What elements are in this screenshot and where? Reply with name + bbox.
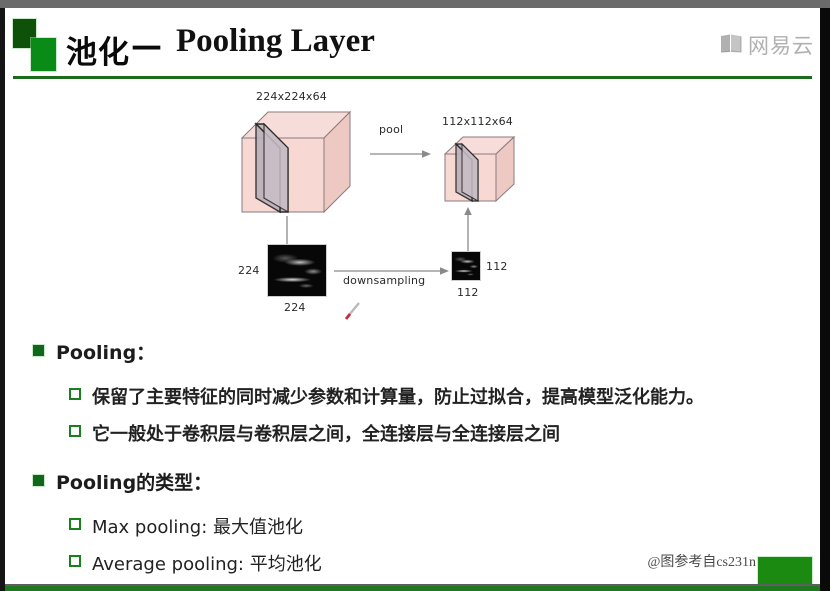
- window-top-bar: [0, 0, 830, 8]
- bullet-heading-label: Pooling的类型：: [56, 468, 212, 495]
- diagram-downsampling-label: downsampling: [343, 274, 425, 287]
- pen-cursor-icon: [342, 300, 364, 322]
- presentation-slide: 池化 — Pooling Layer 网易云 224x224x64: [5, 8, 820, 591]
- screen: 池化 — Pooling Layer 网易云 224x224x64: [0, 0, 830, 591]
- bullet-heading-label: Pooling：: [56, 338, 155, 365]
- watermark-text: 网易云: [748, 30, 814, 60]
- diagram-output-volume-label: 112x112x64: [442, 115, 513, 128]
- page-title-cn: 池化: [66, 27, 130, 72]
- bullet-square-hollow-icon: [69, 425, 81, 437]
- diagram-output-width-label: 112: [457, 286, 479, 299]
- output-volume-cube: [442, 134, 517, 206]
- logo-square-light: [31, 38, 56, 71]
- book-icon: [719, 33, 743, 58]
- bullet-square-hollow-icon: [69, 555, 81, 567]
- footer-green-block: [758, 557, 812, 587]
- window-right-edge: [820, 8, 830, 591]
- diagram-pool-arrow-label: pool: [379, 123, 403, 136]
- bullet-item-max-pooling: Max pooling: 最大值池化: [69, 513, 820, 539]
- header-divider: [13, 76, 812, 79]
- bullet-heading-pooling-types: Pooling的类型：: [33, 468, 820, 495]
- page-title-en: Pooling Layer: [176, 23, 375, 60]
- bullet-item-label: Max pooling: 最大值池化: [92, 513, 303, 539]
- bullet-item-label: 它一般处于卷积层与卷积层之间，全连接层与全连接层之间: [92, 420, 560, 446]
- diagram-input-volume-label: 224x224x64: [256, 90, 327, 103]
- bullet-square-hollow-icon: [69, 388, 81, 400]
- output-feature-map-image: [451, 251, 481, 281]
- pool-arrow-icon: [370, 147, 432, 165]
- input-feature-map-image: [267, 244, 327, 297]
- bullet-item-label: Average pooling: 平均池化: [92, 550, 322, 576]
- bullet-heading-pooling: Pooling：: [33, 338, 820, 365]
- slide-body: Pooling： 保留了主要特征的同时减少参数和计算量，防止过拟合，提高模型泛化…: [5, 338, 820, 576]
- bullet-square-filled-icon: [33, 345, 44, 356]
- bullet-item-label: 保留了主要特征的同时减少参数和计算量，防止过拟合，提高模型泛化能力。: [92, 383, 704, 409]
- bullet-square-hollow-icon: [69, 518, 81, 530]
- bullet-item-pooling-benefit: 保留了主要特征的同时减少参数和计算量，防止过拟合，提高模型泛化能力。: [69, 383, 820, 409]
- footer-attribution: @图参考自cs231n: [647, 551, 756, 571]
- bullet-item-pooling-position: 它一般处于卷积层与卷积层之间，全连接层与全连接层之间: [69, 420, 820, 446]
- watermark: 网易云: [719, 30, 814, 60]
- diagram-input-height-label: 224: [238, 264, 260, 277]
- diagram-output-height-label: 112: [486, 260, 508, 273]
- slide-header: 池化 — Pooling Layer 网易云: [5, 8, 820, 81]
- pooling-diagram: 224x224x64 pool: [220, 90, 540, 330]
- footer-divider-green: [5, 586, 820, 591]
- input-volume-cube: [238, 108, 353, 218]
- page-title-dash: —: [131, 28, 162, 64]
- diagram-input-width-label: 224: [284, 301, 306, 314]
- bullet-square-filled-icon: [33, 475, 44, 486]
